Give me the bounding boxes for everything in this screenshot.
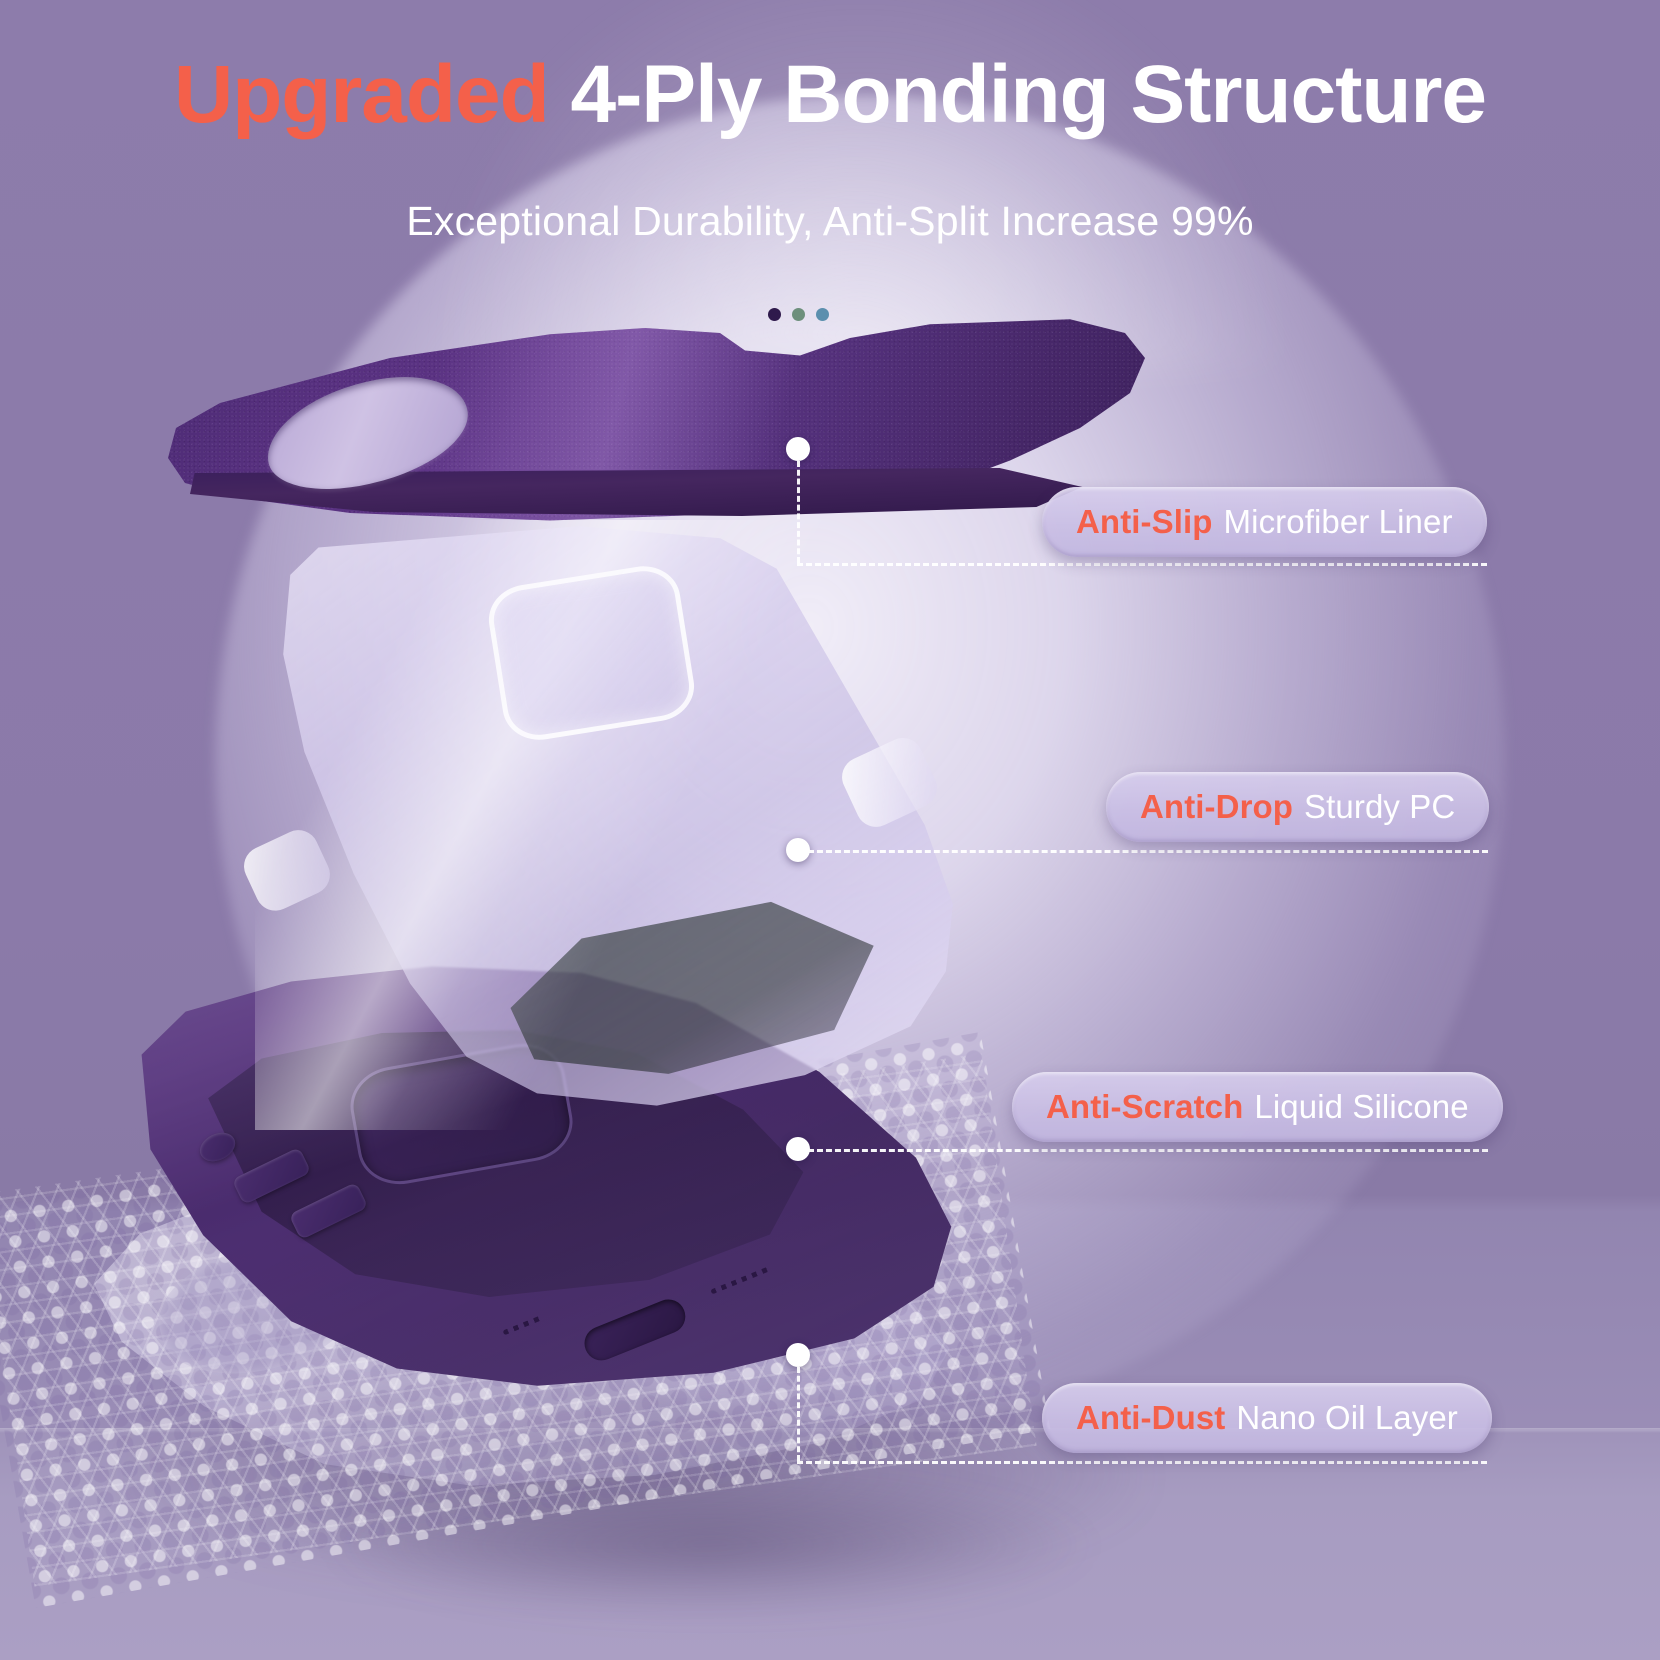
- callout-line-h-anti-drop: [808, 850, 1488, 853]
- label-anti-scratch-emphasis: Anti-Scratch: [1046, 1088, 1243, 1126]
- callout-line-h-anti-slip: [797, 563, 1487, 566]
- label-anti-slip[interactable]: Anti-Slip Microfiber Liner: [1042, 487, 1487, 557]
- callout-line-v-anti-dust: [797, 1367, 800, 1461]
- page-title: Upgraded 4-Ply Bonding Structure: [0, 52, 1660, 138]
- label-anti-dust[interactable]: Anti-Dust Nano Oil Layer: [1042, 1383, 1492, 1453]
- page-subtitle: Exceptional Durability, Anti-Split Incre…: [0, 198, 1660, 245]
- label-anti-drop-emphasis: Anti-Drop: [1140, 788, 1293, 826]
- callout-dot-anti-slip: [786, 437, 810, 461]
- title-rest: 4-Ply Bonding Structure: [570, 49, 1486, 140]
- callout-line-h-anti-scratch: [808, 1149, 1488, 1152]
- callout-dot-anti-dust: [786, 1343, 810, 1367]
- label-anti-slip-emphasis: Anti-Slip: [1076, 503, 1213, 541]
- callout-line-v-anti-slip: [797, 461, 800, 563]
- layer-microfiber-liner: [150, 318, 1150, 568]
- title-highlight: Upgraded: [174, 49, 549, 140]
- label-anti-scratch[interactable]: Anti-Scratch Liquid Silicone: [1012, 1072, 1503, 1142]
- callout-dot-anti-scratch: [786, 1137, 810, 1161]
- infographic-canvas: Upgraded 4-Ply Bonding Structure Excepti…: [0, 0, 1660, 1660]
- label-anti-drop-text: Sturdy PC: [1304, 788, 1455, 826]
- pc-camera-cutout: [484, 561, 699, 746]
- callout-dot-anti-drop: [786, 838, 810, 862]
- label-anti-slip-text: Microfiber Liner: [1224, 503, 1453, 541]
- label-anti-dust-emphasis: Anti-Dust: [1076, 1399, 1225, 1437]
- label-anti-drop[interactable]: Anti-Drop Sturdy PC: [1106, 772, 1489, 842]
- layer-pc-shell: [255, 520, 960, 1130]
- label-anti-dust-text: Nano Oil Layer: [1236, 1399, 1458, 1437]
- callout-line-h-anti-dust: [797, 1461, 1487, 1464]
- label-anti-scratch-text: Liquid Silicone: [1254, 1088, 1468, 1126]
